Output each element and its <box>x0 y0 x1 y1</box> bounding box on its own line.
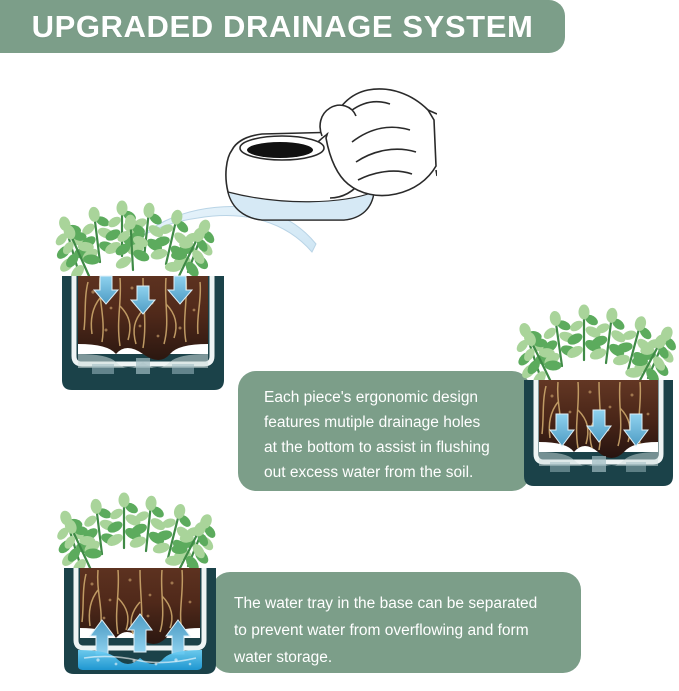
foliage <box>512 305 679 394</box>
drain-hole-left <box>92 364 114 374</box>
callout-line: Each piece's ergonomic design <box>264 385 530 410</box>
hand-holding-watering-can <box>222 80 437 275</box>
title-banner: UPGRADED DRAINAGE SYSTEM <box>0 0 565 53</box>
can-opening <box>247 142 313 158</box>
water-flow-arrows-down <box>550 410 648 446</box>
drain-hole-center <box>136 358 150 374</box>
callout-water-tray-text: The water tray in the base can be separa… <box>234 590 581 671</box>
callout-line: The water tray in the base can be separa… <box>234 590 581 617</box>
callout-line: out excess water from the soil. <box>264 460 530 485</box>
foliage <box>50 493 226 581</box>
page-title: UPGRADED DRAINAGE SYSTEM <box>32 11 534 42</box>
foliage <box>48 201 225 287</box>
callout-drainage-holes-text: Each piece's ergonomic design features m… <box>264 385 530 485</box>
callout-water-tray: The water tray in the base can be separa… <box>212 572 581 673</box>
callout-line: at the bottom to assist in flushing <box>264 435 530 460</box>
planter-bottom-left <box>50 458 230 686</box>
drain-hole-right <box>626 462 646 472</box>
callout-line: features mutiple drainage holes <box>264 410 530 435</box>
callout-line: to prevent water from overflowing and fo… <box>234 617 581 644</box>
drain-hole-center <box>592 456 606 472</box>
callout-drainage-holes: Each piece's ergonomic design features m… <box>238 371 530 491</box>
callout-line: water storage. <box>234 644 581 671</box>
drain-hole-right <box>172 364 194 374</box>
planter-right <box>512 268 679 496</box>
planter-top-left <box>48 158 238 403</box>
infographic-canvas: UPGRADED DRAINAGE SYSTEM Each piece's er… <box>0 0 679 690</box>
drain-hole-left <box>550 462 570 472</box>
